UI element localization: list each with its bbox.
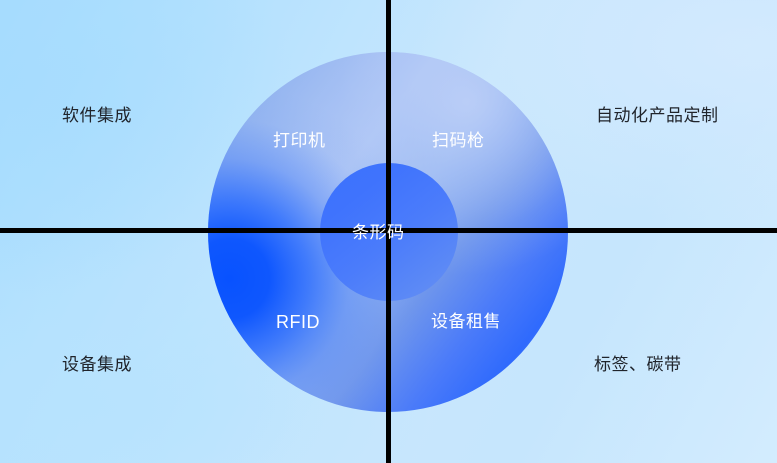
quadrant-label-software-integration: 软件集成 (62, 107, 132, 124)
diagram-canvas: 软件集成 自动化产品定制 设备集成 标签、碳带 打印机 扫码枪 RFID 设备租… (0, 0, 777, 463)
ring-label-scanner: 扫码枪 (432, 132, 485, 149)
ring-label-printer: 打印机 (273, 132, 326, 149)
quadrant-label-equipment-integration: 设备集成 (62, 356, 132, 373)
quadrant-label-automation-customization: 自动化产品定制 (596, 107, 719, 124)
quadrant-label-labels-ribbons: 标签、碳带 (594, 356, 682, 373)
ring-label-rfid: RFID (276, 313, 320, 331)
ring-label-equipment-rental: 设备租售 (431, 313, 501, 330)
core-label-barcode: 条形码 (352, 224, 405, 241)
